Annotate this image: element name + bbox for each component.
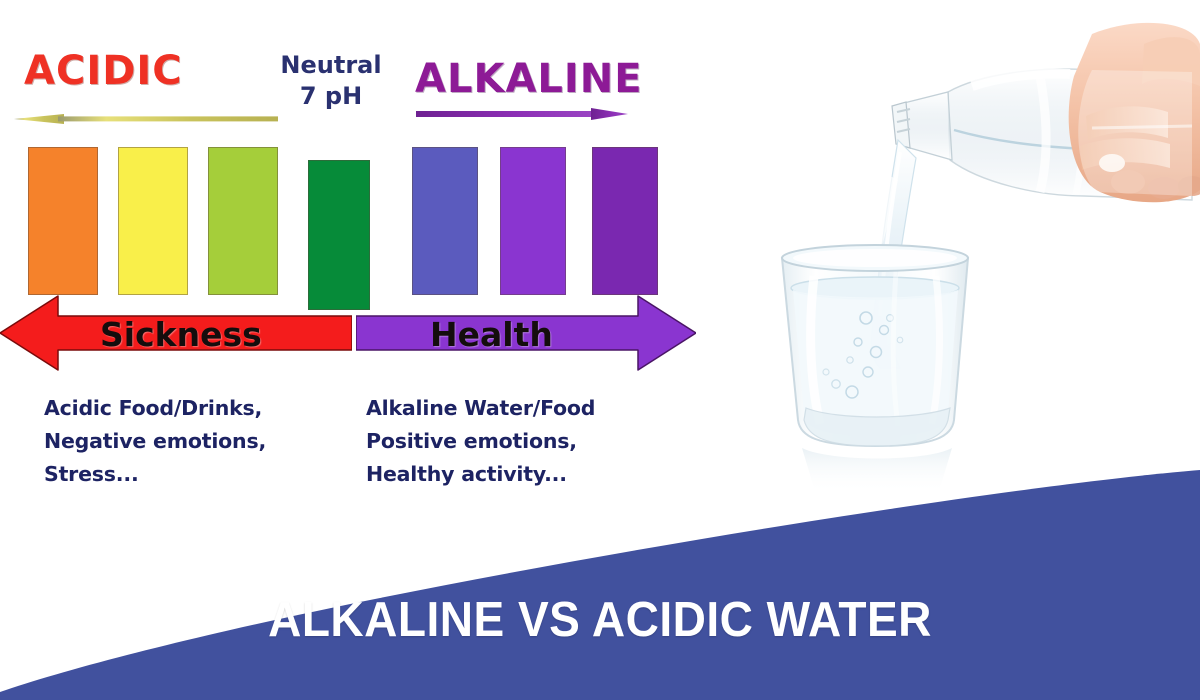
neutral-ph-label: Neutral 7 pH: [276, 50, 386, 111]
ph-bar-darkpurple: [592, 147, 658, 295]
health-label: Health: [430, 315, 553, 354]
ph-bar-green: [308, 160, 370, 310]
sickness-label: Sickness: [100, 315, 262, 354]
infographic-canvas: ACIDIC Neutral 7 pH ALKALINE: [0, 0, 1200, 700]
alkaline-heading: ALKALINE: [415, 56, 643, 102]
ph-bar-blueviolet: [412, 147, 478, 295]
acidic-heading: ACIDIC: [24, 48, 183, 94]
ph-bar-orange: [28, 147, 98, 295]
acidic-direction-arrow-icon: [14, 112, 280, 126]
ph-bar-yellowgreen: [208, 147, 278, 295]
alkaline-direction-arrow-icon: [416, 106, 628, 122]
ph-bar-purple: [500, 147, 566, 295]
ph-bar-yellow: [118, 147, 188, 295]
hand-icon: [1069, 23, 1200, 202]
title-banner: [0, 430, 1200, 700]
banner-title: ALKALINE VS ACIDIC WATER: [36, 592, 1164, 648]
